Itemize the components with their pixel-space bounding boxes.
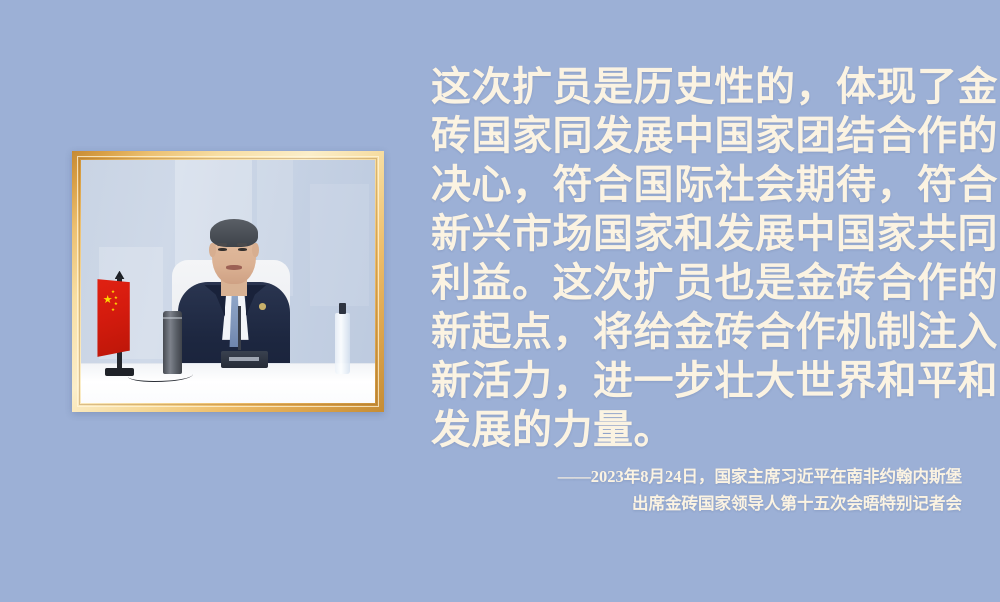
thermos-flask [163,311,182,374]
quote-line: 新活力，进一步壮大世界和平和 [431,356,965,405]
flag-star-large: ★ [103,295,113,306]
quote-line: 砖国家同发展中国家团结合作的 [431,111,965,160]
quote-line: 发展的力量。 [431,405,965,454]
flag-star-small: ★ [114,296,118,301]
eyebrow-left [217,243,228,246]
eyebrow-right [237,243,248,246]
flag-star-small: ★ [111,308,115,313]
flag-star-small: ★ [114,302,118,307]
quote-line: 利益。这次扩员也是金砖合作的 [431,258,965,307]
mouth [226,265,242,269]
quote-block: 这次扩员是历史性的，体现了金 砖国家同发展中国家团结合作的 决心，符合国际社会期… [431,62,965,454]
flag-stand-base [105,368,134,376]
nameplate [221,351,268,368]
quote-line: 新兴市场国家和发展中国家共同 [431,209,965,258]
microphone [238,306,241,350]
attribution-line: ——2023年8月24日，国家主席习近平在南非约翰内斯堡 [362,463,962,490]
lapel-badge [259,303,266,309]
attribution-block: ——2023年8月24日，国家主席习近平在南非约翰内斯堡 出席金砖国家领导人第十… [362,463,962,517]
quote-line: 决心，符合国际社会期待，符合 [431,160,965,209]
backdrop-panel [310,184,369,306]
quote-line: 这次扩员是历史性的，体现了金 [431,62,965,111]
quote-line: 新起点，将给金砖合作机制注入 [431,307,965,356]
water-bottle [335,313,350,374]
attribution-line: 出席金砖国家领导人第十五次会晤特别记者会 [362,490,962,517]
photo: ★ ★ ★ ★ ★ [81,160,375,403]
photo-frame: ★ ★ ★ ★ ★ [72,151,384,412]
ear-right [252,243,258,258]
poster-root: ★ ★ ★ ★ ★ 这次扩员是历史性的，体现了金 砖国家同发展中国家团结合作的 … [0,0,1000,602]
flag-star-small: ★ [111,290,115,295]
ear-left [209,243,215,258]
